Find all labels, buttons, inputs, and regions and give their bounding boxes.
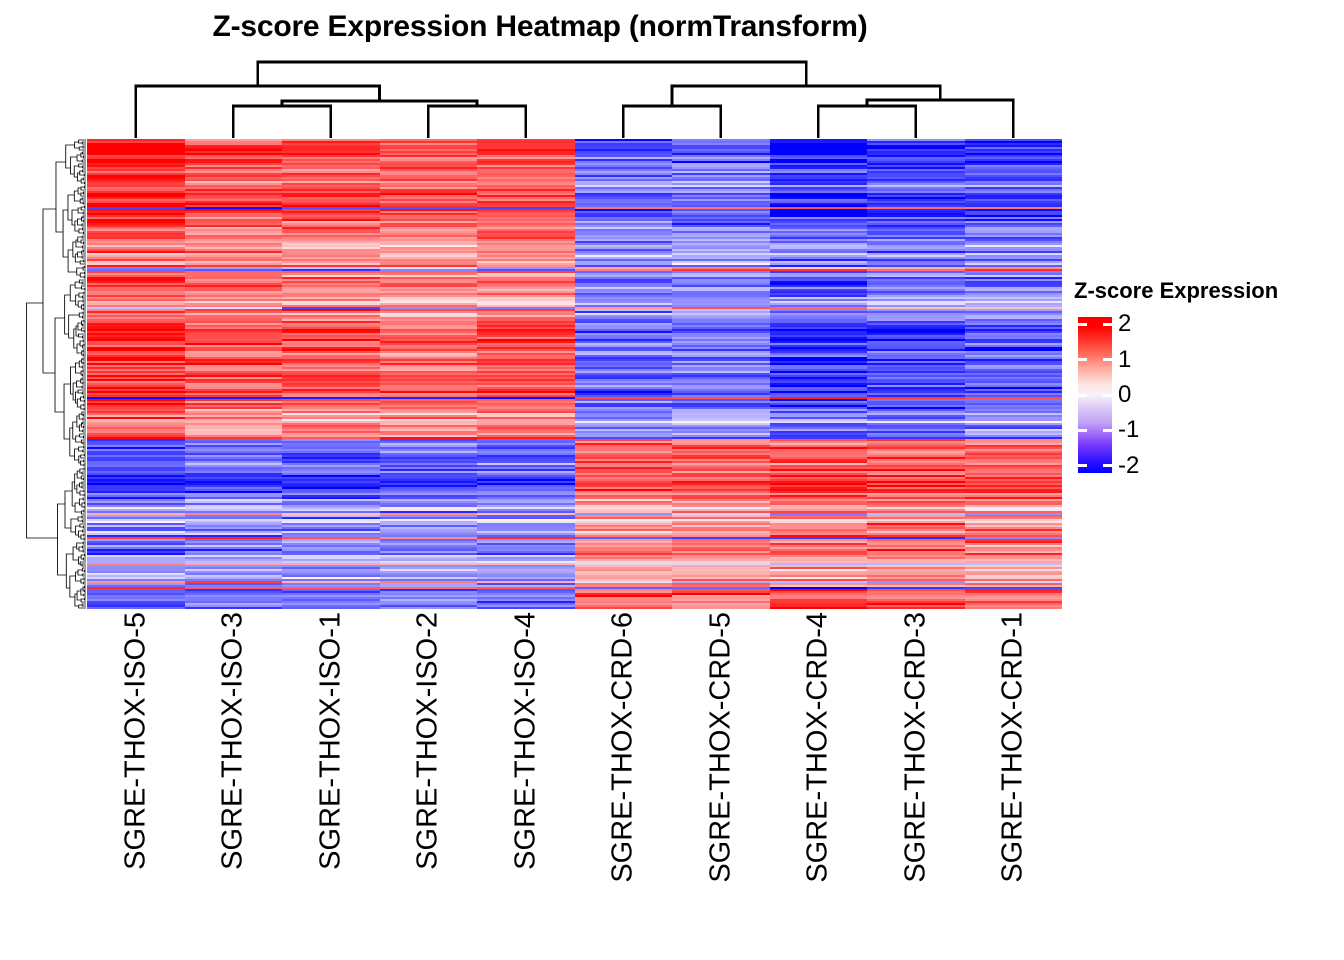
column-label-text: SGRE-THOX-CRD-1	[999, 612, 1028, 883]
column-label-sgre-thox-crd-4: SGRE-THOX-CRD-4	[770, 612, 868, 932]
legend-tick-label: -1	[1118, 418, 1139, 442]
column-label-text: SGRE-THOX-ISO-3	[219, 612, 248, 870]
heatmap-column	[380, 139, 478, 609]
column-dendrogram	[87, 58, 1062, 138]
legend-tick-label: -2	[1118, 454, 1139, 478]
column-label-sgre-thox-iso-5: SGRE-THOX-ISO-5	[87, 612, 185, 932]
row-dendrogram	[14, 139, 86, 609]
column-label-sgre-thox-iso-1: SGRE-THOX-ISO-1	[282, 612, 380, 932]
heatmap-column	[867, 139, 965, 609]
column-label-text: SGRE-THOX-ISO-1	[316, 612, 345, 870]
legend-tick-label: 2	[1118, 312, 1131, 336]
legend-tick-mark	[1078, 358, 1087, 361]
heatmap-matrix	[87, 139, 1062, 609]
legend-tick-mark	[1103, 429, 1112, 432]
heatmap-column	[575, 139, 673, 609]
legend-tick-mark	[1078, 464, 1087, 467]
heatmap-column	[185, 139, 283, 609]
column-label-text: SGRE-THOX-CRD-5	[706, 612, 735, 883]
legend-tick-label: 1	[1118, 348, 1131, 372]
column-label-sgre-thox-iso-3: SGRE-THOX-ISO-3	[185, 612, 283, 932]
legend-tick-mark	[1078, 429, 1087, 432]
column-label-axis: SGRE-THOX-ISO-5SGRE-THOX-ISO-3SGRE-THOX-…	[87, 612, 1062, 942]
legend-tick-mark	[1103, 464, 1112, 467]
heatmap-column	[770, 139, 868, 609]
column-label-sgre-thox-iso-4: SGRE-THOX-ISO-4	[477, 612, 575, 932]
column-label-text: SGRE-THOX-ISO-5	[121, 612, 150, 870]
legend-tick-mark	[1103, 394, 1112, 397]
heatmap-column	[477, 139, 575, 609]
column-label-sgre-thox-crd-5: SGRE-THOX-CRD-5	[672, 612, 770, 932]
heatmap-figure: Z-score Expression Heatmap (normTransfor…	[0, 0, 1344, 960]
column-label-text: SGRE-THOX-ISO-2	[414, 612, 443, 870]
heatmap-column	[87, 139, 185, 609]
page-title: Z-score Expression Heatmap (normTransfor…	[0, 10, 1080, 44]
legend-title: Z-score Expression	[1074, 278, 1278, 304]
legend-tick-mark	[1078, 394, 1087, 397]
legend-tick-mark	[1078, 323, 1087, 326]
column-label-text: SGRE-THOX-CRD-4	[804, 612, 833, 883]
legend-tick-mark	[1103, 358, 1112, 361]
column-label-text: SGRE-THOX-CRD-3	[901, 612, 930, 883]
legend-tick-label: 0	[1118, 383, 1131, 407]
heatmap-column	[282, 139, 380, 609]
heatmap-column	[672, 139, 770, 609]
column-label-sgre-thox-crd-1: SGRE-THOX-CRD-1	[965, 612, 1063, 932]
heatmap-column	[965, 139, 1063, 609]
legend-tick-mark	[1103, 323, 1112, 326]
column-label-text: SGRE-THOX-CRD-6	[609, 612, 638, 883]
column-label-text: SGRE-THOX-ISO-4	[511, 612, 540, 870]
column-label-sgre-thox-crd-3: SGRE-THOX-CRD-3	[867, 612, 965, 932]
legend-colorbar-wrap	[1078, 317, 1112, 473]
column-label-sgre-thox-crd-6: SGRE-THOX-CRD-6	[575, 612, 673, 932]
column-label-sgre-thox-iso-2: SGRE-THOX-ISO-2	[380, 612, 478, 932]
